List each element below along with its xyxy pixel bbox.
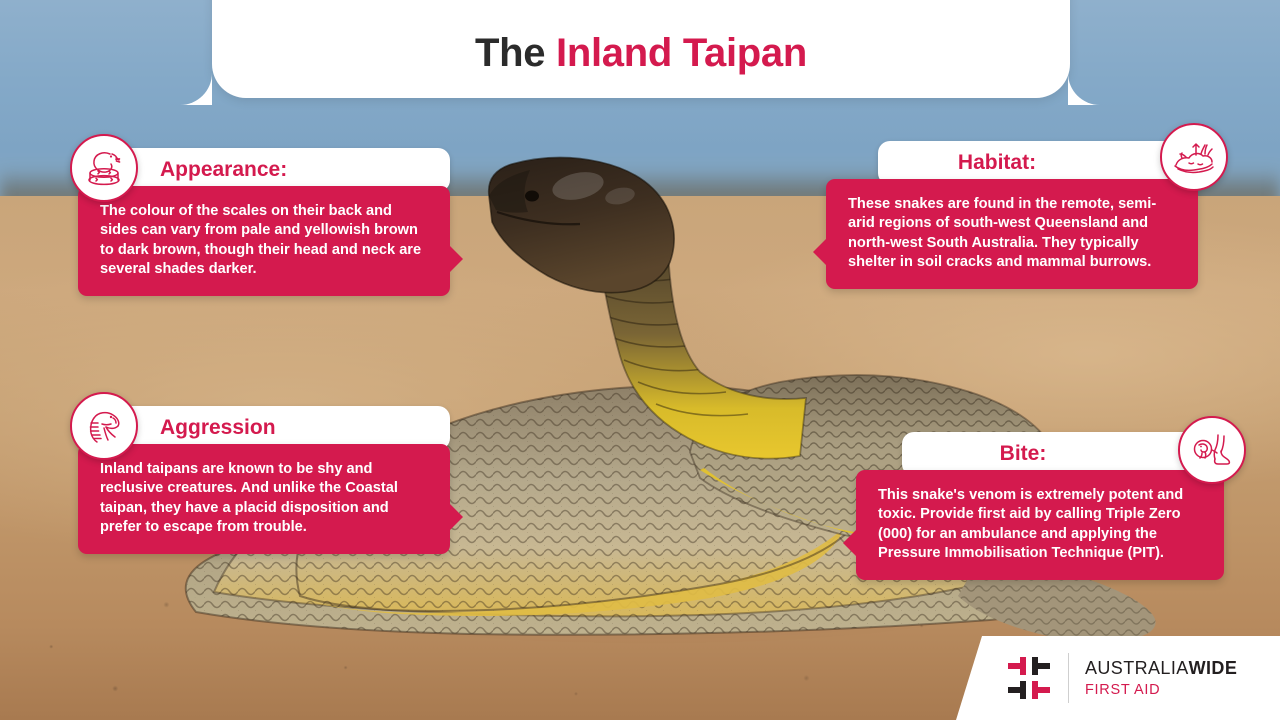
desert-landscape-icon	[1160, 123, 1228, 191]
card-bite-pointer	[843, 530, 856, 556]
card-appearance-title: Appearance:	[160, 158, 450, 182]
card-habitat-pointer	[813, 239, 826, 265]
background-photo	[0, 0, 1280, 720]
page-title-prefix: The	[475, 31, 556, 75]
card-habitat-body: These snakes are found in the remote, se…	[826, 179, 1198, 289]
card-habitat-title: Habitat:	[878, 151, 1116, 175]
inland-taipan-snake	[0, 0, 1280, 720]
australia-wide-cross-logo-icon	[1008, 657, 1050, 699]
logo-quadrant-top-right	[1032, 657, 1050, 675]
page-title-highlight: Inland Taipan	[556, 31, 807, 75]
header-corner-right	[1068, 73, 1100, 105]
card-aggression-title: Aggression	[160, 416, 450, 440]
card-bite-body: This snake's venom is extremely potent a…	[856, 470, 1224, 580]
card-bite: Bite: This snake's venom is extremely po…	[856, 432, 1224, 580]
snake-biting-foot-icon	[1178, 416, 1246, 484]
infographic-canvas: The Inland Taipan Appearance: The co	[0, 0, 1280, 720]
card-bite-title: Bite:	[902, 442, 1144, 466]
logo-first-aid-text: FIRST AID	[1085, 682, 1237, 698]
page-title: The Inland Taipan	[475, 31, 807, 76]
card-bite-text: This snake's venom is extremely potent a…	[878, 486, 1206, 564]
logo-quadrant-bottom-left	[1008, 681, 1026, 699]
header-corner-left	[180, 73, 212, 105]
logo-quadrant-bottom-right	[1032, 681, 1050, 699]
logo-line-one: AUSTRALIAWIDE	[1085, 658, 1237, 679]
logo-australia-text: AUSTRALIA	[1085, 658, 1189, 678]
coiled-snake-icon	[70, 134, 138, 202]
brand-logo-panel: AUSTRALIAWIDE FIRST AID	[956, 636, 1280, 720]
card-appearance-text: The colour of the scales on their back a…	[100, 202, 432, 280]
card-aggression-text: Inland taipans are known to be shy and r…	[100, 460, 432, 538]
striking-snake-head-icon	[70, 392, 138, 460]
card-appearance: Appearance: The colour of the scales on …	[78, 148, 450, 296]
page-header: The Inland Taipan	[212, 0, 1070, 98]
card-habitat: Habitat: These snakes are found in the r…	[826, 141, 1198, 289]
card-appearance-body: The colour of the scales on their back a…	[78, 186, 450, 296]
card-aggression: Aggression Inland taipans are known to b…	[78, 406, 450, 554]
logo-divider	[1068, 653, 1069, 703]
card-habitat-text: These snakes are found in the remote, se…	[848, 195, 1180, 273]
logo-wordmark: AUSTRALIAWIDE FIRST AID	[1085, 658, 1237, 698]
logo-wide-text: WIDE	[1189, 658, 1238, 678]
logo-quadrant-top-left	[1008, 657, 1026, 675]
card-aggression-pointer	[450, 504, 463, 530]
card-aggression-body: Inland taipans are known to be shy and r…	[78, 444, 450, 554]
card-appearance-pointer	[450, 246, 463, 272]
